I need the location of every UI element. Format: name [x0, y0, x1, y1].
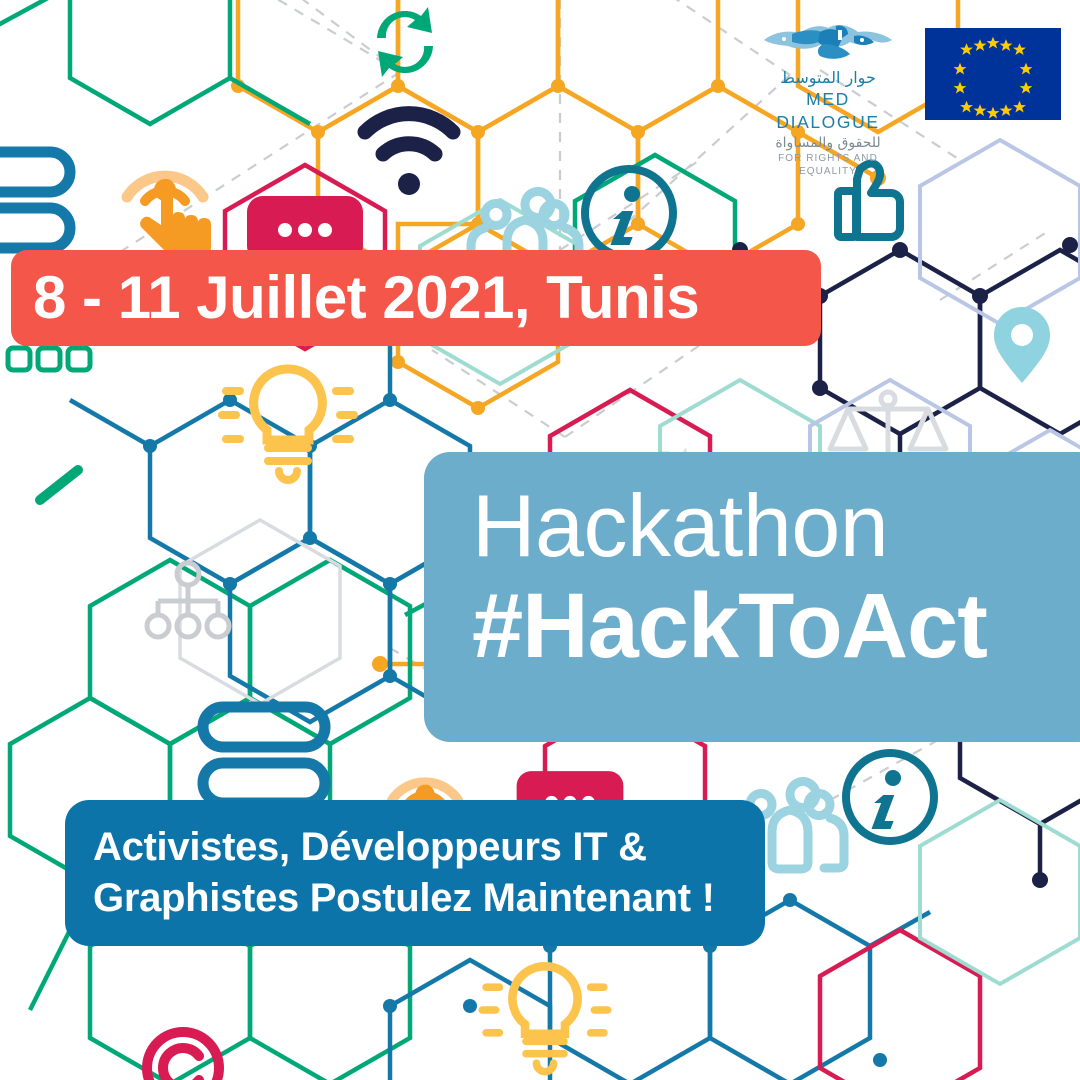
touch-tap-icon: [127, 176, 211, 259]
date-text: 8 - 11 Juillet 2021, Tunis: [33, 268, 699, 328]
wifi-icon: [365, 114, 453, 195]
mediterranean-map-icon: [758, 18, 898, 68]
equality-bars-icon: [0, 152, 70, 248]
logo-english-tagline: FOR RIGHTS AND EQUALITY: [752, 152, 904, 179]
info-circle-icon: [585, 169, 673, 257]
logo-arabic-tagline: للحقوق والمساواة: [752, 134, 904, 152]
sync-refresh-icon: [377, 7, 433, 77]
event-title: Hackathon: [472, 474, 1080, 578]
cta-line-1: Activistes, Développeurs IT &: [93, 822, 765, 873]
eu-stars: [925, 28, 1061, 120]
hex-gray-group: [180, 520, 340, 704]
event-hashtag: #HackToAct: [472, 572, 1080, 681]
lightbulb-icon: [222, 369, 354, 480]
date-banner: 8 - 11 Juillet 2021, Tunis: [11, 250, 821, 346]
med-dialogue-logo: حوار المتوسط MED DIALOGUE للحقوق والمساو…: [752, 18, 904, 179]
green-small-squares: [8, 348, 90, 370]
european-union-flag: [925, 28, 1061, 120]
copyright-icon: [147, 1032, 219, 1080]
call-to-action-banner: Activistes, Développeurs IT & Graphistes…: [65, 800, 765, 946]
location-pin-icon: [994, 307, 1050, 383]
title-panel: Hackathon #HackToAct: [424, 452, 1080, 742]
lightbulb-icon: [482, 966, 607, 1071]
info-circle-icon: [846, 753, 934, 841]
logo-arabic-name: حوار المتوسط: [752, 68, 904, 88]
poster-canvas: حوار المتوسط MED DIALOGUE للحقوق والمساو…: [0, 0, 1080, 1080]
cta-line-2: Graphistes Postulez Maintenant !: [93, 873, 765, 924]
logo-english-name: MED DIALOGUE: [752, 88, 904, 134]
